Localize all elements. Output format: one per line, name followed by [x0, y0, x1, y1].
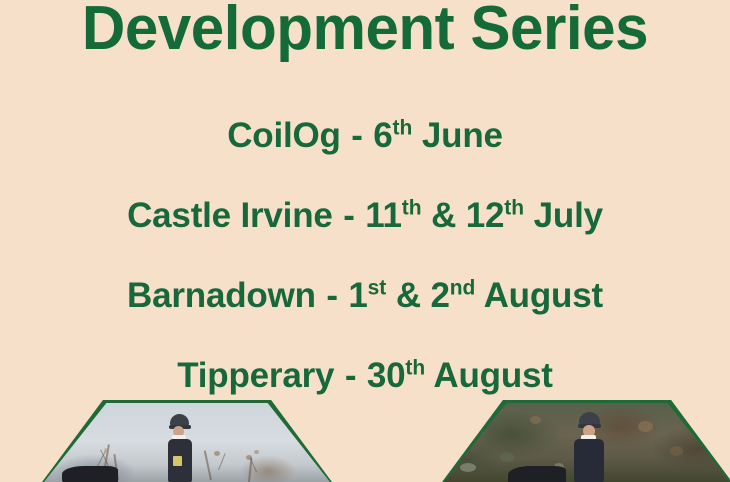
event-ordinal-2: nd	[450, 276, 476, 299]
event-ordinal: th	[393, 116, 413, 139]
event-venue: Castle Irvine	[127, 196, 333, 235]
event-day: 6	[373, 116, 392, 155]
event-day-2: 12	[466, 196, 505, 235]
event-line-castle-irvine: Castle Irvine - 11th & 12th July	[0, 176, 730, 256]
event-conjunction: &	[396, 276, 421, 315]
photo-frame-left	[42, 400, 332, 482]
event-month: August	[433, 356, 552, 395]
page-title: Development Series	[11, 0, 719, 64]
rider-jacket	[574, 439, 604, 482]
photo-left-image	[42, 403, 332, 482]
horse-silhouette	[508, 466, 566, 482]
event-separator: -	[350, 116, 363, 155]
event-ordinal: st	[368, 276, 387, 299]
event-venue: Barnadown	[127, 276, 316, 315]
event-day: 30	[367, 356, 406, 395]
photo-strip	[0, 400, 730, 482]
event-month: June	[422, 116, 503, 155]
event-separator: -	[344, 356, 357, 395]
event-ordinal-2: th	[504, 196, 524, 219]
event-day: 1	[348, 276, 367, 315]
event-month: August	[484, 276, 603, 315]
event-venue: Tipperary	[177, 356, 334, 395]
event-separator: -	[325, 276, 338, 315]
event-conjunction: &	[431, 196, 456, 235]
rider-figure-left	[160, 403, 200, 482]
poster-canvas: Development Series CoilOg - 6th June Cas…	[0, 0, 730, 482]
event-line-coilog: CoilOg - 6th June	[0, 96, 730, 176]
event-month: July	[534, 196, 603, 235]
horse-silhouette	[62, 466, 118, 482]
event-day: 11	[365, 196, 402, 235]
rider-figure-right	[568, 403, 612, 482]
photo-frame-right	[442, 400, 730, 482]
event-line-barnadown: Barnadown - 1st & 2nd August	[0, 256, 730, 336]
competitor-number-bib	[173, 456, 182, 466]
event-separator: -	[342, 196, 355, 235]
event-venue: CoilOg	[227, 116, 341, 155]
event-day-2: 2	[430, 276, 449, 315]
photo-right-image	[442, 403, 730, 482]
event-ordinal: th	[405, 356, 425, 379]
event-date-list: CoilOg - 6th June Castle Irvine - 11th &…	[0, 96, 730, 416]
event-ordinal: th	[402, 196, 422, 219]
